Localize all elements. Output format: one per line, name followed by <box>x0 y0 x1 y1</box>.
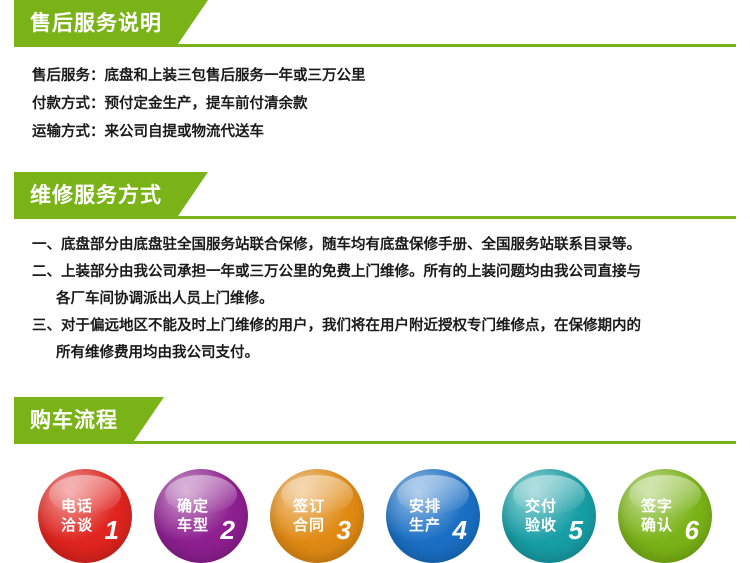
section-repair-service: 维修服务方式 一、底盘部分由底盘驻全国服务站联合保修，随车均有底盘保修手册、全国… <box>14 172 736 371</box>
step-label: 电话洽谈 <box>61 497 109 535</box>
body-line: 运输方式：来公司自提或物流代送车 <box>32 118 718 146</box>
step-label: 交付验收 <box>525 497 573 535</box>
section-title: 售后服务说明 <box>30 13 162 34</box>
step-label-line1: 电话 <box>61 498 93 515</box>
section-header-purchase-process: 购车流程 <box>14 397 736 443</box>
process-step-6[interactable]: 签字确认 6 <box>618 469 712 563</box>
header-rule <box>14 44 736 47</box>
step-label-line2: 洽谈 <box>61 517 93 534</box>
body-line: 售后服务：底盘和上装三包售后服务一年或三万公里 <box>32 62 718 90</box>
process-step-3[interactable]: 签订合同 3 <box>270 469 364 563</box>
step-label-line1: 签订 <box>293 498 325 515</box>
body-line: 二、上装部分由我公司承担一年或三万公里的免费上门维修。所有的上装问题均由我公司直… <box>32 259 718 286</box>
body-line: 一、底盘部分由底盘驻全国服务站联合保修，随车均有底盘保修手册、全国服务站联系目录… <box>32 232 718 259</box>
section-after-sales: 售后服务说明 售后服务：底盘和上装三包售后服务一年或三万公里 付款方式：预付定金… <box>14 0 736 150</box>
banner-notch-shape <box>178 172 208 216</box>
section-header-after-sales: 售后服务说明 <box>14 0 736 46</box>
process-step-2[interactable]: 确定车型 2 <box>154 469 248 563</box>
step-number: 2 <box>221 517 235 543</box>
section-purchase-process: 购车流程 电话洽谈 1 确定车型 2 签订合同 3 安排生产 <box>14 397 736 563</box>
step-label-line2: 生产 <box>409 517 441 534</box>
step-number: 3 <box>337 517 351 543</box>
page-root: 售后服务说明 售后服务：底盘和上装三包售后服务一年或三万公里 付款方式：预付定金… <box>0 0 750 563</box>
process-steps: 电话洽谈 1 确定车型 2 签订合同 3 安排生产 4 交付验收 5 <box>14 443 736 563</box>
step-number: 5 <box>569 517 583 543</box>
process-step-1[interactable]: 电话洽谈 1 <box>38 469 132 563</box>
header-banner: 维修服务方式 <box>14 172 208 216</box>
step-label-line1: 交付 <box>525 498 557 515</box>
body-line: 所有维修费用均由我公司支付。 <box>32 340 718 367</box>
step-label-line2: 验收 <box>525 517 557 534</box>
header-banner: 售后服务说明 <box>14 0 208 44</box>
banner-notch-shape <box>134 397 164 441</box>
section-header-repair-service: 维修服务方式 <box>14 172 736 218</box>
header-rule <box>14 441 736 444</box>
step-number: 4 <box>453 517 467 543</box>
step-number: 6 <box>685 517 699 543</box>
step-number: 1 <box>105 517 119 543</box>
body-line: 各厂车间协调派出人员上门维修。 <box>32 286 718 313</box>
header-rule <box>14 216 736 219</box>
body-line: 三、对于偏远地区不能及时上门维修的用户，我们将在用户附近授权专门维修点，在保修期… <box>32 313 718 340</box>
step-label-line2: 车型 <box>177 517 209 534</box>
step-label-line2: 确认 <box>641 517 673 534</box>
step-label-line1: 签字 <box>641 498 673 515</box>
step-label: 安排生产 <box>409 497 457 535</box>
step-label: 签订合同 <box>293 497 341 535</box>
step-label-line2: 合同 <box>293 517 325 534</box>
section-body-after-sales: 售后服务：底盘和上装三包售后服务一年或三万公里 付款方式：预付定金生产，提车前付… <box>14 46 736 150</box>
step-label-line1: 安排 <box>409 498 441 515</box>
section-body-repair-service: 一、底盘部分由底盘驻全国服务站联合保修，随车均有底盘保修手册、全国服务站联系目录… <box>14 218 736 371</box>
step-label: 签字确认 <box>641 497 689 535</box>
header-banner: 购车流程 <box>14 397 164 441</box>
step-label-line1: 确定 <box>177 498 209 515</box>
section-title: 购车流程 <box>30 410 118 431</box>
banner-notch-shape <box>178 0 208 44</box>
step-label: 确定车型 <box>177 497 225 535</box>
section-title: 维修服务方式 <box>30 185 162 206</box>
process-step-5[interactable]: 交付验收 5 <box>502 469 596 563</box>
body-line: 付款方式：预付定金生产，提车前付清余款 <box>32 90 718 118</box>
process-step-4[interactable]: 安排生产 4 <box>386 469 480 563</box>
